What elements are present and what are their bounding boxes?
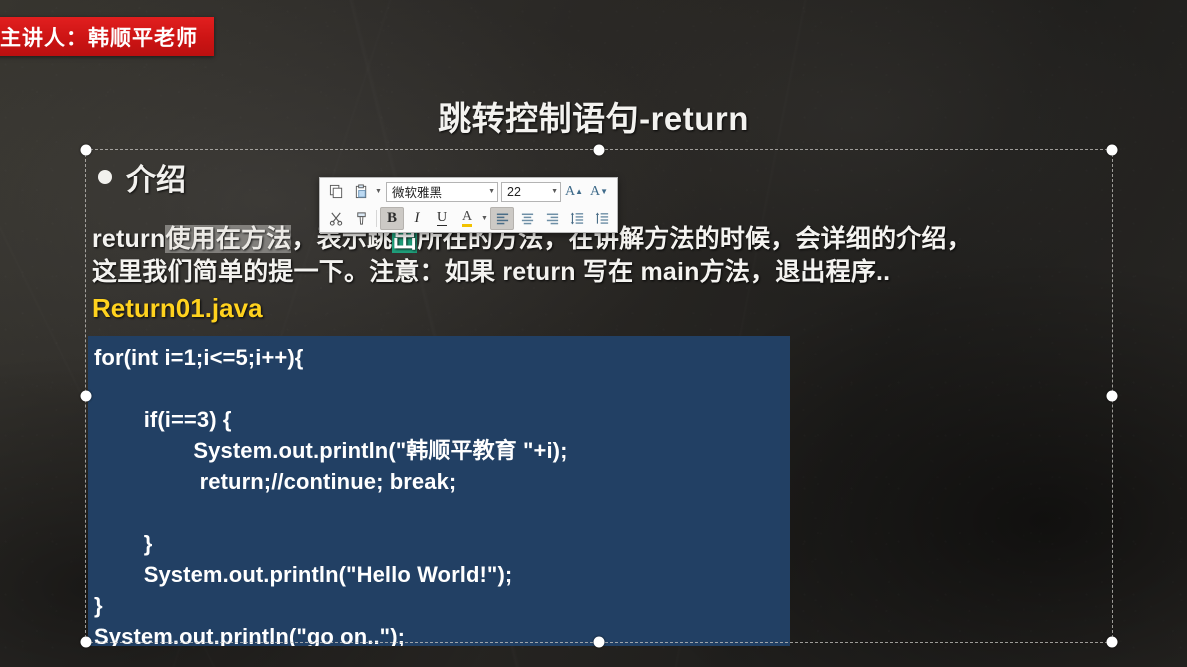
font-color-dropdown-caret-icon[interactable]: ▼: [480, 207, 489, 230]
align-right-icon: [545, 211, 560, 226]
underline-button[interactable]: U: [430, 207, 454, 230]
font-size-select[interactable]: 22 ▼: [501, 182, 561, 202]
paste-dropdown-caret-icon[interactable]: ▼: [374, 180, 383, 203]
font-family-value: 微软雅黑: [392, 182, 484, 201]
paragraph-spacing-icon: [595, 211, 610, 226]
line-spacing-button[interactable]: [565, 207, 589, 230]
paragraph-selected-text: 使用在方法: [165, 225, 291, 253]
align-center-icon: [520, 211, 535, 226]
paste-icon[interactable]: [349, 180, 373, 203]
shrink-font-label: A: [590, 184, 600, 200]
italic-button[interactable]: I: [405, 207, 429, 230]
toolbar-divider: [376, 210, 377, 227]
italic-label: I: [415, 210, 420, 227]
resize-handle-middle-right[interactable]: [1107, 391, 1118, 402]
decrease-font-size-icon[interactable]: A▼: [587, 180, 611, 203]
align-center-button[interactable]: [515, 207, 539, 230]
paragraph-line2: 这里我们简单的提一下。注意：如果 return 写在 main方法，退出程序..: [92, 258, 890, 286]
font-family-select[interactable]: 微软雅黑 ▼: [386, 182, 498, 202]
font-color-button[interactable]: A: [455, 207, 479, 230]
font-color-label: A: [462, 210, 472, 227]
paragraph-spacing-button[interactable]: [590, 207, 614, 230]
align-left-button[interactable]: [490, 207, 514, 230]
grow-font-caret-icon: ▲: [575, 187, 583, 196]
bold-button[interactable]: B: [380, 207, 404, 230]
presentation-slide: 主讲人：韩顺平老师 跳转控制语句-return 介绍 return使用在方法，表…: [0, 0, 1187, 667]
align-right-button[interactable]: [540, 207, 564, 230]
resize-handle-top-middle[interactable]: [594, 145, 605, 156]
intro-heading-label: 介绍: [126, 155, 186, 199]
chevron-down-icon: ▼: [484, 188, 495, 195]
slide-title: 跳转控制语句-return: [0, 92, 1187, 140]
java-file-name: Return01.java: [92, 293, 1102, 324]
resize-handle-top-right[interactable]: [1107, 145, 1118, 156]
mini-format-toolbar[interactable]: ▼ 微软雅黑 ▼ 22 ▼ A▲ A▼: [319, 177, 618, 233]
resize-handle-top-left[interactable]: [81, 145, 92, 156]
speaker-banner: 主讲人：韩顺平老师: [0, 17, 214, 56]
bullet-icon: [98, 170, 112, 184]
speaker-banner-label: 主讲人：韩顺平老师: [0, 22, 198, 52]
shrink-font-caret-icon: ▼: [600, 187, 608, 196]
line-spacing-icon: [570, 211, 585, 226]
mini-toolbar-row-2: B I U A ▼: [320, 205, 617, 232]
increase-font-size-icon[interactable]: A▲: [562, 180, 586, 203]
mini-toolbar-row-1: ▼ 微软雅黑 ▼ 22 ▼ A▲ A▼: [320, 178, 617, 205]
grow-font-label: A: [565, 184, 575, 200]
chevron-down-icon: ▼: [547, 188, 558, 195]
code-block[interactable]: for(int i=1;i<=5;i++){ if(i==3) { System…: [88, 336, 790, 646]
paragraph-line1-pre: return: [92, 225, 165, 253]
bold-label: B: [387, 210, 397, 227]
resize-handle-bottom-right[interactable]: [1107, 637, 1118, 648]
cut-icon[interactable]: [324, 207, 348, 230]
align-left-icon: [495, 211, 510, 226]
font-size-value: 22: [507, 185, 547, 199]
format-painter-icon[interactable]: [349, 207, 373, 230]
copy-icon[interactable]: [324, 180, 348, 203]
underline-label: U: [437, 211, 447, 226]
